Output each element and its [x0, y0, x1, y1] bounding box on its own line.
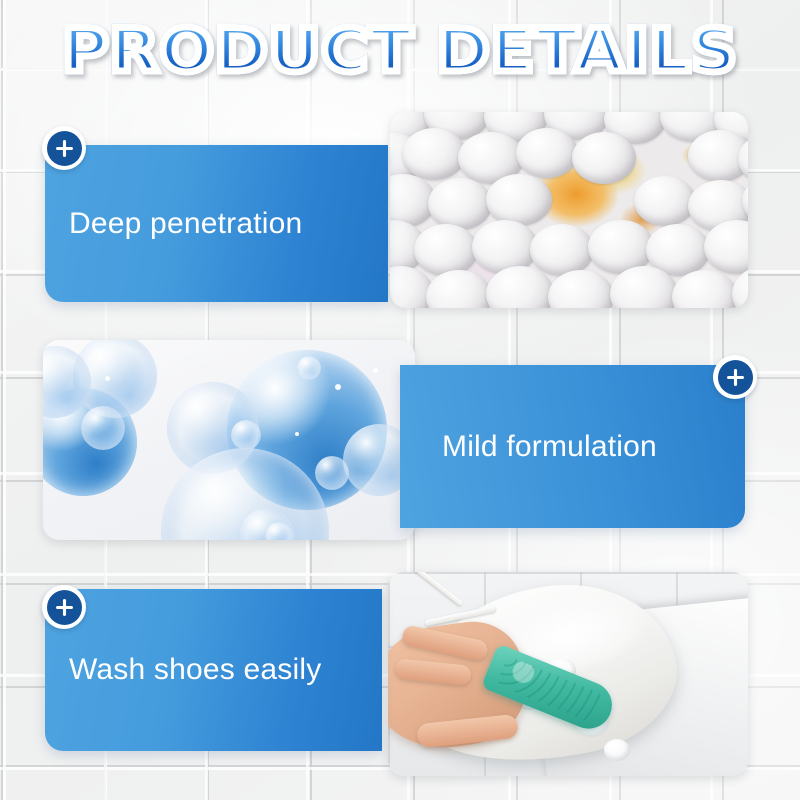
feature-label: Deep penetration [45, 207, 302, 241]
feature-card-mild-formulation[interactable]: Mild formulation [400, 365, 745, 528]
bead-cluster [390, 112, 748, 308]
shoe-scrubbing-photo [388, 572, 748, 776]
plus-icon-disc [47, 590, 82, 625]
feature-label: Mild formulation [400, 430, 657, 464]
soap-bubbles-photo [43, 340, 415, 540]
plus-icon[interactable] [42, 126, 86, 170]
detergent-beads-stain-photo [390, 112, 748, 308]
page-title: PRODUCT DETAILS [0, 20, 800, 82]
plus-icon-disc [47, 131, 82, 166]
feature-label: Wash shoes easily [45, 653, 321, 687]
feature-card-deep-penetration[interactable]: Deep penetration [45, 145, 388, 302]
plus-icon[interactable] [42, 585, 86, 629]
plus-icon-disc [718, 360, 753, 395]
feature-card-wash-shoes-easily[interactable]: Wash shoes easily [45, 589, 382, 751]
plus-icon[interactable] [713, 355, 757, 399]
